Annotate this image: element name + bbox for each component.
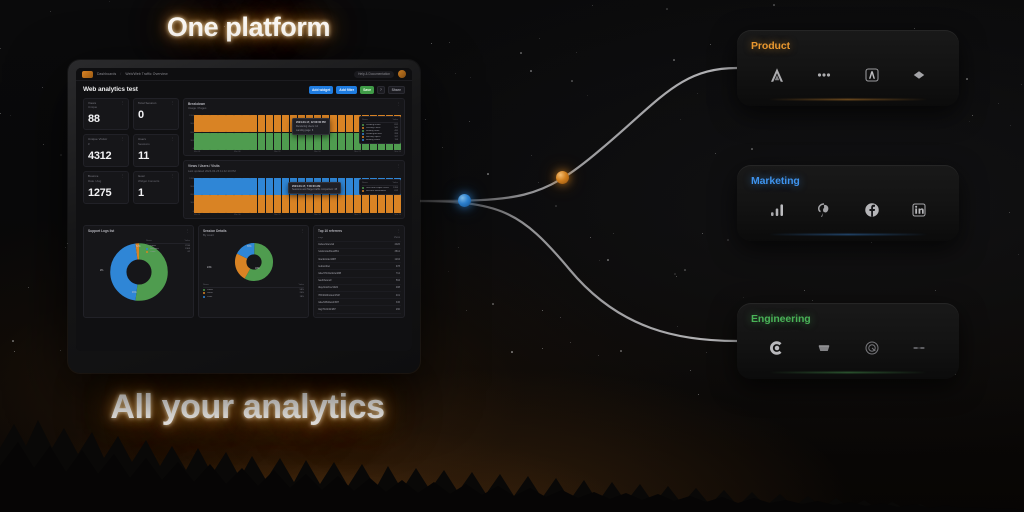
card-marketing[interactable]: Marketing <box>737 165 959 241</box>
bar[interactable] <box>266 115 274 132</box>
bar[interactable] <box>258 178 266 195</box>
card-label-engineering: Engineering <box>751 313 811 325</box>
y-tick-label: 0 <box>186 211 194 213</box>
star <box>520 52 522 54</box>
slice-label: 46% <box>132 292 137 294</box>
table-row[interactable]: /TR/2024/sites/1547401 <box>317 292 401 299</box>
legend-row[interactable]: Trending Room812 <box>362 124 398 126</box>
table-cell-views: 488 <box>396 286 400 289</box>
star <box>570 342 571 343</box>
table-row[interactable]: /tracks/site/19871204 <box>317 256 401 263</box>
bar-group <box>266 178 274 213</box>
add-widget-button[interactable]: Add widget <box>309 86 333 94</box>
stat-card[interactable]: Users Sessions ⋮ 11 <box>133 134 179 167</box>
legend-series-name: Views <box>150 245 183 247</box>
clerk-icon[interactable] <box>766 337 788 359</box>
table-row[interactable]: /day/visit/rss/1022488 <box>317 285 401 292</box>
bar[interactable] <box>202 178 210 195</box>
bar[interactable] <box>242 133 250 150</box>
bar[interactable] <box>218 115 226 132</box>
bar[interactable] <box>226 133 234 150</box>
legend-row[interactable]: Sending Room114 <box>362 139 398 141</box>
donut-svg <box>234 242 274 282</box>
legend-series-value: 431 <box>394 130 398 132</box>
amplitude-icon[interactable] <box>766 64 788 86</box>
y-tick-label: 900 <box>186 123 194 125</box>
bar[interactable] <box>346 115 354 132</box>
bar[interactable] <box>282 115 290 132</box>
bar[interactable] <box>234 115 242 132</box>
legend-color-swatch <box>362 124 364 126</box>
y-tick-label: 600 <box>186 194 194 196</box>
star <box>576 52 577 53</box>
mixpanel-icon[interactable] <box>861 64 883 86</box>
bar[interactable] <box>314 195 322 212</box>
bar[interactable] <box>274 178 282 195</box>
x-tick-label: Mar 21 <box>354 151 360 155</box>
legend-series-name: Users <box>207 292 298 294</box>
legend-col-name: Name <box>146 240 152 242</box>
y-axis-ticks: 12009006003000 <box>186 115 194 150</box>
panel-menu-icon[interactable]: ⋮ <box>397 164 400 168</box>
legend-series-value: 62 <box>188 251 190 253</box>
table-col-page: Page <box>318 237 323 239</box>
breadcrumb-separator-icon: / <box>120 72 121 76</box>
bar[interactable] <box>322 133 330 150</box>
chart-legend: NameValueTrending Room812Tracking Points… <box>359 116 401 144</box>
bar[interactable] <box>330 133 338 150</box>
star <box>1018 254 1019 255</box>
legend-series-name: Trending Room <box>366 124 393 126</box>
google-analytics-icon[interactable] <box>766 199 788 221</box>
card-icons-engineering <box>737 331 959 365</box>
chart-panel-breakdown[interactable]: Breakdown Usage / Pages ⋮ 12009006003000… <box>183 98 405 157</box>
bar[interactable] <box>266 133 274 150</box>
star <box>442 147 443 148</box>
legend-series-value: 114 <box>395 139 399 141</box>
card-product[interactable]: Product <box>737 30 959 106</box>
stat-card[interactable]: Goal Widget Converts ⋮ 1 <box>133 171 179 204</box>
breadcrumb-item-0[interactable]: Dashboards <box>97 72 116 76</box>
bar[interactable] <box>338 133 346 150</box>
referrers-table: PageViews/index/site/visit4026/visits/si… <box>314 236 404 317</box>
bar[interactable] <box>218 195 226 212</box>
x-axis-ticks: Mar 01Mar 06Mar 11Mar 16Mar 21Mar 26 <box>194 151 401 155</box>
bar[interactable] <box>202 133 210 150</box>
donut-chart-0: 52% 46% 2% NameValueViews2136Sessions190… <box>84 236 193 308</box>
bar-group <box>266 115 274 150</box>
y-tick-label: 300 <box>186 202 194 204</box>
star <box>607 259 609 261</box>
bar[interactable] <box>274 115 282 132</box>
panel-menu-icon[interactable]: ⋮ <box>397 102 400 106</box>
bar[interactable] <box>298 195 306 212</box>
legend-col-name: Name <box>362 182 368 184</box>
bar[interactable] <box>290 195 298 212</box>
help-docs-link[interactable]: Help & Documentation <box>354 71 394 78</box>
linkedin-icon[interactable] <box>908 199 930 221</box>
table-cell-views: 4026 <box>394 243 400 246</box>
legend-header: NameValue <box>362 182 398 186</box>
donut-legend-row[interactable]: Views2136 <box>146 245 190 247</box>
legend-series-value: 24% <box>300 292 304 294</box>
bar[interactable] <box>194 133 202 150</box>
bar[interactable] <box>306 195 314 212</box>
stat-row: Bounce Rate / Avg ⋮ 1275 <box>83 171 179 204</box>
stat-sublabel: Rate / Avg <box>88 179 101 183</box>
star <box>702 233 703 234</box>
laptop-screen: Dashboards / Web/Web Traffic Overview He… <box>76 68 412 351</box>
bar[interactable] <box>250 133 258 150</box>
stat-card[interactable]: Bounce Rate / Avg ⋮ 1275 <box>83 171 129 204</box>
save-button[interactable]: Save <box>360 86 374 94</box>
table-cell-page: /log/7101/11987 <box>318 308 336 311</box>
star <box>448 271 449 272</box>
bar[interactable] <box>394 195 402 212</box>
table-cell-page: /tracks/site/1987 <box>318 258 336 261</box>
star <box>1009 212 1010 213</box>
bar-group <box>210 178 218 213</box>
table-row[interactable]: /site/1684/web/387336 <box>317 299 401 306</box>
avatar[interactable] <box>398 70 406 78</box>
panel-title: Top 10 referrers <box>318 229 342 233</box>
legend-row[interactable]: Sessions Breakdown612 <box>362 190 398 192</box>
table-cell-page: /subscribe/ <box>318 265 330 268</box>
bar[interactable] <box>274 195 282 212</box>
legend-col-value: Value <box>393 182 398 184</box>
star <box>458 247 459 248</box>
bar-group <box>194 115 202 150</box>
legend-series-name: Visits and Unique Users <box>366 187 392 189</box>
bar[interactable] <box>226 115 234 132</box>
x-tick-label: Mar 11 <box>274 214 280 218</box>
legend-series-value: 197 <box>394 136 398 138</box>
bar[interactable] <box>378 195 386 212</box>
stat-label: Total Session <box>138 102 157 106</box>
bar[interactable] <box>194 115 202 132</box>
table-cell-page: /site/4716/article/288 <box>318 272 341 275</box>
share-button[interactable]: Share <box>388 86 405 94</box>
bar[interactable] <box>266 195 274 212</box>
x-tick-label: Mar 06 <box>234 151 240 155</box>
bar[interactable] <box>226 178 234 195</box>
bar[interactable] <box>282 133 290 150</box>
stat-value: 1 <box>138 187 174 199</box>
star <box>538 182 539 183</box>
pinterest-icon[interactable] <box>813 199 835 221</box>
link-icon[interactable] <box>908 337 930 359</box>
legend-color-swatch <box>362 127 364 129</box>
stat-card[interactable]: Unique Visitor # ⋮ 4312 <box>83 134 129 167</box>
table-cell-views: 3812 <box>394 250 400 253</box>
ellipsis-icon[interactable]: ⋮ <box>171 138 175 140</box>
bar[interactable] <box>290 133 298 150</box>
bar[interactable] <box>226 195 234 212</box>
stat-value: 0 <box>138 109 174 121</box>
bar[interactable] <box>346 195 354 212</box>
star <box>555 205 557 207</box>
star <box>676 276 677 277</box>
star <box>492 303 494 305</box>
ellipsis-icon[interactable]: ⋮ <box>121 138 125 140</box>
slice-label: 24% <box>207 267 212 269</box>
y-tick-label: 1200 <box>186 178 194 180</box>
star <box>812 300 813 301</box>
x-tick-label: Mar 11 <box>274 151 280 155</box>
legend-series-value: 288 <box>394 133 398 135</box>
bar[interactable] <box>242 178 250 195</box>
legend-series-value: 2136 <box>185 245 190 247</box>
bar[interactable] <box>322 195 330 212</box>
chart-panel-views[interactable]: Views / Users / Visits Last updated 2024… <box>183 160 405 219</box>
star <box>560 317 561 318</box>
donut-legend-row[interactable]: Views58% <box>203 289 304 291</box>
stat-card[interactable]: Views Unique ⋮ 88 <box>83 98 129 131</box>
table-row[interactable]: /site/4716/article/288712 <box>317 270 401 277</box>
star <box>12 340 14 342</box>
hub-node-orange[interactable] <box>556 171 569 184</box>
add-filter-button[interactable]: Add filter <box>336 86 357 94</box>
star <box>466 310 467 311</box>
bar[interactable] <box>218 133 226 150</box>
bar[interactable] <box>250 178 258 195</box>
bar-group <box>330 115 338 150</box>
bar[interactable] <box>354 195 362 212</box>
donut-legend-row[interactable]: Visits18% <box>203 296 304 298</box>
bar-group <box>226 178 234 213</box>
bar[interactable] <box>258 133 266 150</box>
hub-node-blue[interactable] <box>458 194 471 207</box>
bar[interactable] <box>346 178 354 195</box>
legend-color-swatch <box>362 139 364 141</box>
donut-legend: NameValueViews58%Users24%Visits18% <box>199 284 308 301</box>
bar[interactable] <box>274 133 282 150</box>
legend-row[interactable]: Trending Archive288 <box>362 133 398 135</box>
bar-group <box>250 178 258 213</box>
y-tick-label: 1200 <box>186 115 194 117</box>
donut-legend-row[interactable]: Sessions1908 <box>146 248 190 250</box>
bar-group <box>226 115 234 150</box>
slice-label: 52% <box>136 246 141 248</box>
bar[interactable] <box>218 178 226 195</box>
bar[interactable] <box>210 133 218 150</box>
table-row[interactable]: /web/bound/594 <box>317 278 401 285</box>
bar-group <box>258 178 266 213</box>
legend-row[interactable]: Sending Store431 <box>362 130 398 132</box>
legend-series-value: 1908 <box>185 248 190 250</box>
bar[interactable] <box>306 133 314 150</box>
bar[interactable] <box>330 195 338 212</box>
ring-icon[interactable] <box>861 337 883 359</box>
bar[interactable] <box>338 195 346 212</box>
legend-col-name: Name <box>203 284 209 286</box>
bar[interactable] <box>370 195 378 212</box>
ellipsis-icon[interactable] <box>813 64 835 86</box>
stat-card[interactable]: Total Session ⋮ 0 <box>133 98 179 131</box>
top-referrers-panel[interactable]: Top 10 referrers ⋮ PageViews/index/site/… <box>313 225 405 318</box>
bar[interactable] <box>346 133 354 150</box>
legend-col-value: Value <box>393 119 398 121</box>
bar[interactable] <box>298 133 306 150</box>
card-icons-marketing <box>737 193 959 227</box>
donut-panel-session-details[interactable]: Session Details By count ⋮ 58% <box>198 225 309 318</box>
legend-row[interactable]: Visits and Unique Users1284 <box>362 187 398 189</box>
slice-label: 2% <box>100 270 103 272</box>
legend-row[interactable]: Blocking Space197 <box>362 136 398 138</box>
table-cell-page: /visits/site/files/881 <box>318 250 339 253</box>
breadcrumb-item-1[interactable]: Web/Web Traffic Overview <box>125 72 167 76</box>
star <box>673 59 675 61</box>
donut-legend-row[interactable]: Users24% <box>203 292 304 294</box>
table-cell-views: 712 <box>396 272 400 275</box>
table-row[interactable]: /subscribe/978 <box>317 263 401 270</box>
bar[interactable] <box>250 195 258 212</box>
bar[interactable] <box>314 133 322 150</box>
star <box>674 273 676 275</box>
bar[interactable] <box>210 178 218 195</box>
star <box>14 351 15 352</box>
table-row[interactable]: /visits/site/files/8813812 <box>317 249 401 256</box>
dashboard-body: Views Unique ⋮ 88 Total <box>76 98 412 225</box>
table-row[interactable]: /index/site/visit4026 <box>317 242 401 249</box>
slice-label: 18% <box>255 268 260 270</box>
legend-series-name: Tracking Points <box>366 127 393 129</box>
star <box>449 42 450 43</box>
ellipsis-icon[interactable]: ⋮ <box>121 102 125 104</box>
panel-menu-icon[interactable]: ⋮ <box>397 229 400 233</box>
legend-series-name: Blocking Space <box>366 136 393 138</box>
bar[interactable] <box>250 115 258 132</box>
legend-series-value: 812 <box>394 124 398 126</box>
bar[interactable] <box>242 115 250 132</box>
bar[interactable] <box>234 178 242 195</box>
bar[interactable] <box>282 195 290 212</box>
x-tick-label: Mar 16 <box>314 214 320 218</box>
bar[interactable] <box>258 195 266 212</box>
bar[interactable] <box>386 195 394 212</box>
star <box>425 119 426 120</box>
y-tick-label: 0 <box>186 148 194 150</box>
star <box>590 237 591 238</box>
bar[interactable] <box>258 115 266 132</box>
star <box>773 4 775 6</box>
star <box>620 350 622 352</box>
star <box>598 355 599 356</box>
bar[interactable] <box>202 195 210 212</box>
legend-col-value: Value <box>185 240 190 242</box>
card-label-marketing: Marketing <box>751 175 800 187</box>
bar[interactable] <box>338 115 346 132</box>
chart-legend: NameValueVisits and Unique Users1284Sess… <box>359 179 401 195</box>
stat-value: 88 <box>88 113 124 125</box>
bar-group <box>274 115 282 150</box>
star <box>431 43 432 44</box>
help-icon[interactable]: ? <box>377 86 385 94</box>
legend-series-name: Sending Room <box>366 139 394 141</box>
legend-row[interactable]: Tracking Points540 <box>362 127 398 129</box>
stat-sublabel: Widget Converts <box>138 179 159 183</box>
bar[interactable] <box>242 195 250 212</box>
dashboard-bottom-row: Support Logs list ⋮ 52% 46% 2% <box>76 225 412 324</box>
bar[interactable] <box>210 115 218 132</box>
ellipsis-icon[interactable]: ⋮ <box>171 102 175 104</box>
bar[interactable] <box>234 133 242 150</box>
ellipsis-icon[interactable]: ⋮ <box>171 175 175 177</box>
tooltip-row: Landing page: 8 <box>296 129 326 132</box>
card-icons-product <box>737 58 959 92</box>
bar[interactable] <box>194 178 202 195</box>
donut-legend-row[interactable]: Other62 <box>146 251 190 253</box>
table-row[interactable]: /log/7101/11987290 <box>317 306 401 313</box>
star <box>0 48 1 49</box>
star <box>706 352 707 353</box>
panel-menu-icon[interactable]: ⋮ <box>301 229 304 233</box>
y-tick-label: 300 <box>186 140 194 142</box>
legend-series-value: 540 <box>394 127 398 129</box>
bar[interactable] <box>202 115 210 132</box>
bar[interactable] <box>362 195 370 212</box>
legend-col-name: Name <box>362 119 368 121</box>
bar-group <box>346 115 354 150</box>
ellipsis-icon[interactable]: ⋮ <box>121 175 125 177</box>
facebook-icon[interactable] <box>861 199 883 221</box>
star <box>571 80 573 82</box>
bar-group <box>250 115 258 150</box>
bar[interactable] <box>330 115 338 132</box>
star <box>969 121 970 122</box>
bar-group <box>258 115 266 150</box>
x-tick-label: Mar 16 <box>314 151 320 155</box>
tooltip-title: 2024-03-17, 7:00:00 AM <box>292 185 337 188</box>
x-tick-label: Mar 01 <box>194 151 200 155</box>
legend-color-swatch <box>362 130 364 132</box>
brand-logo-icon[interactable] <box>82 71 93 78</box>
panel-subtitle: Last updated 2024-03-26 11:42:10 PM <box>188 169 236 173</box>
star <box>587 95 588 96</box>
panel-menu-icon[interactable]: ⋮ <box>186 229 189 233</box>
star <box>680 119 681 120</box>
stat-value: 1275 <box>88 187 124 199</box>
donut-panel-support-logs[interactable]: Support Logs list ⋮ 52% 46% 2% <box>83 225 194 318</box>
star <box>972 115 973 116</box>
bar-group <box>234 115 242 150</box>
legend-color-swatch <box>146 245 148 247</box>
x-tick-label: Mar 01 <box>194 214 200 218</box>
legend-color-swatch <box>146 248 148 250</box>
star <box>1021 84 1022 85</box>
bar[interactable] <box>266 178 274 195</box>
bar[interactable] <box>234 195 242 212</box>
diamond-icon[interactable] <box>908 64 930 86</box>
cloud-icon[interactable] <box>813 337 835 359</box>
star <box>677 326 678 327</box>
panel-subtitle: By count <box>203 233 227 237</box>
star <box>470 77 471 78</box>
stat-sublabel: # <box>88 142 107 146</box>
star <box>592 5 593 6</box>
star <box>469 121 470 122</box>
analytics-dashboard: Dashboards / Web/Web Traffic Overview He… <box>76 68 412 351</box>
legend-series-name: Sessions <box>150 248 183 250</box>
star <box>539 38 540 39</box>
stat-label: Unique Visitor <box>88 138 107 142</box>
panel-title: Views / Users / Visits <box>188 164 236 168</box>
legend-series-name: Visits <box>207 296 298 298</box>
bar[interactable] <box>210 195 218 212</box>
x-tick-label: Mar 26 <box>394 151 400 155</box>
bar[interactable] <box>194 195 202 212</box>
legend-header: NameValue <box>362 119 398 123</box>
